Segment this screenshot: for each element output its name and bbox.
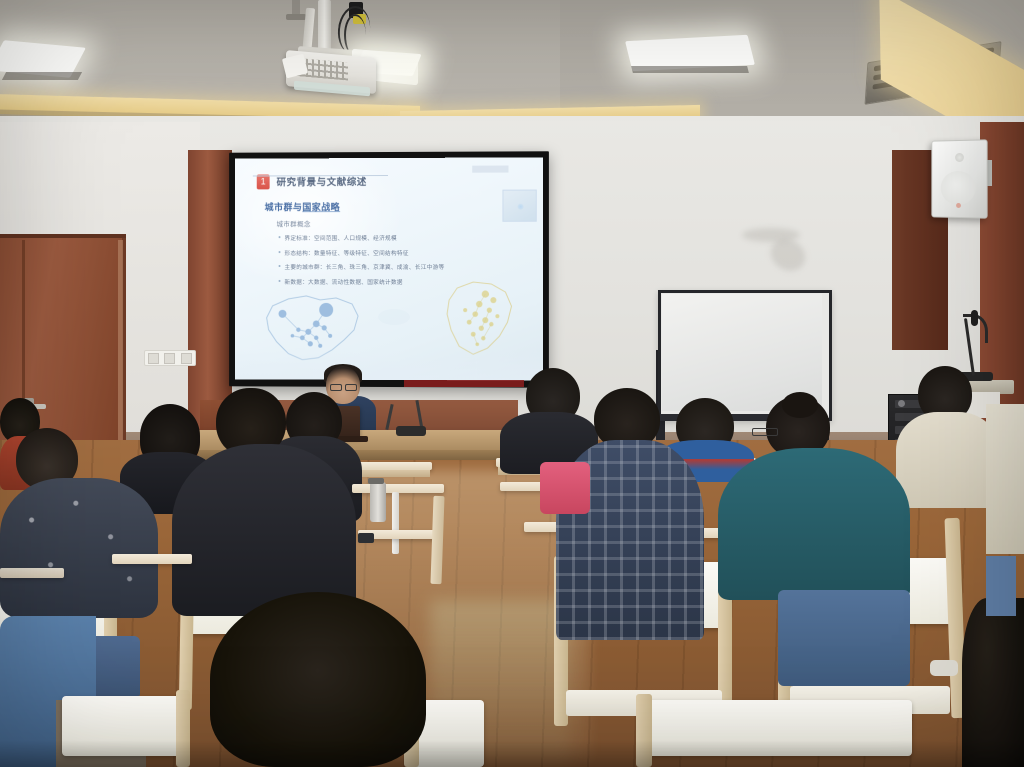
desk-far-left-front [0, 568, 64, 578]
speaker-tweeter-icon [955, 153, 964, 162]
slide-bullet: 主要的城市群：长三角、珠三角、京津冀、成渝、长江中游等 [279, 263, 445, 271]
student-cream-jacket-body [896, 412, 1000, 508]
slide-bullet: 界定标准：空间范围、人口规模、经济规模 [279, 234, 445, 242]
light-switch-3[interactable] [181, 353, 192, 364]
thermos-bottle[interactable] [370, 482, 386, 522]
podium-device [396, 426, 426, 436]
student-teal-sweater-body [718, 448, 910, 600]
speaker-led-icon [956, 203, 961, 208]
slide-bullet: 新数据：大数据、流动性数据、国家统计数据 [279, 277, 445, 285]
panel-light-left-edge [2, 72, 82, 80]
student-front-left-body [0, 478, 158, 618]
podium-red-trim [404, 380, 524, 387]
slide-bullet: 形态结构：数量特征、等级特征、空间结构特征 [279, 248, 445, 256]
student-right-edge-jeans [986, 556, 1016, 616]
projector-mount-pole [318, 0, 331, 52]
panel-light-right-edge [631, 66, 749, 73]
slide-inset-highlight [518, 204, 524, 210]
presentation-slide: 1 研究背景与文献综述 城市群与国家战略 城市群概念 界定标准：空间范围、人口规… [235, 157, 543, 380]
slide-subtitle: 城市群与国家战略 [265, 200, 340, 213]
screen-bottom-glare [235, 350, 543, 381]
desk-front-left [112, 554, 192, 564]
student-left-back-body-2 [172, 444, 356, 616]
slide-subtitle-accent: 国家战略 [302, 202, 340, 212]
student-teal-sweater-hair-bun [782, 392, 818, 418]
bottom-vignette [0, 740, 1024, 767]
screen-watermark [472, 166, 508, 173]
shoe-icon [930, 660, 958, 676]
classroom-scene: 1 研究背景与文献综述 城市群与国家战略 城市群概念 界定标准：空间范围、人口规… [0, 0, 1024, 767]
slide-section-label: 城市群概念 [277, 218, 311, 228]
slide-subtitle-plain: 城市群与 [265, 202, 303, 212]
map-center-faint-icon [374, 306, 414, 328]
wall-speaker [931, 139, 987, 218]
microphone-head-icon [971, 310, 978, 326]
projection-screen: 1 研究背景与文献综述 城市群与国家战略 城市群概念 界定标准：空间范围、人口规… [235, 157, 543, 380]
rack-knob-icon[interactable] [898, 400, 905, 407]
student-teal-sweater-glasses-icon [752, 428, 778, 436]
light-switch-2[interactable] [164, 353, 175, 364]
slide-bullet-list: 界定标准：空间范围、人口规模、经济规模 形态结构：数量特征、等级特征、空间结构特… [279, 234, 445, 292]
student-denim-right-jeans [778, 590, 910, 686]
student-right-edge-body [986, 404, 1024, 554]
light-switch-1[interactable] [148, 353, 159, 364]
slide-section-number: 1 [257, 174, 270, 189]
student-pink-top-body [540, 462, 590, 514]
thermos-cap [368, 478, 384, 484]
desk-mid-left-leg [392, 492, 399, 554]
smartphone-on-desk[interactable] [358, 533, 374, 543]
ceiling-hook-cap [286, 14, 306, 20]
light-switch-plate[interactable] [144, 350, 196, 366]
speaker-cone-icon [941, 171, 976, 205]
door-edge-highlight [118, 240, 123, 448]
presenter-glasses-icon [330, 384, 356, 389]
